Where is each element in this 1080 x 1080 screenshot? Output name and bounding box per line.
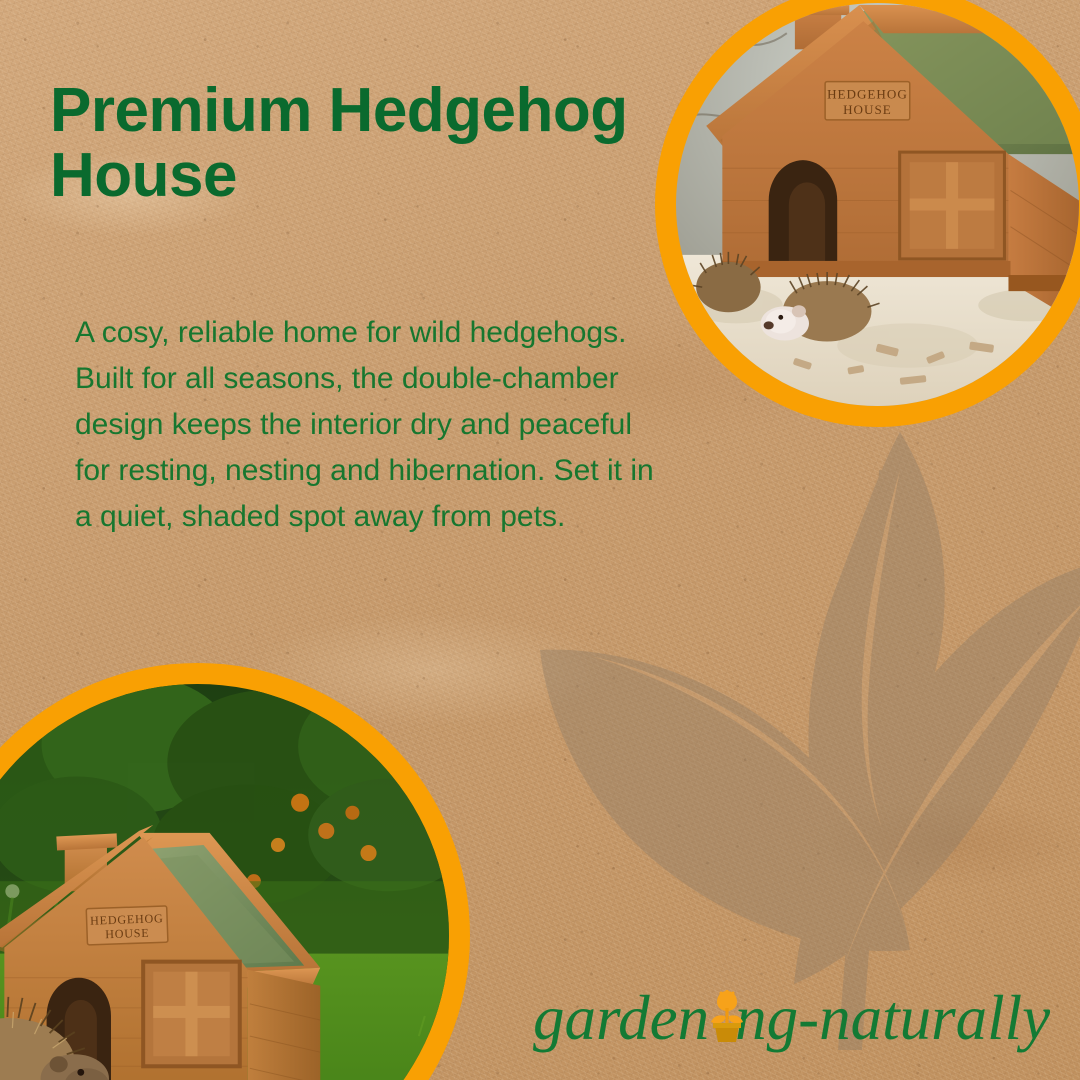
svg-text:HEDGEHOG: HEDGEHOG: [827, 87, 908, 102]
headline-line-2: House: [50, 143, 650, 208]
svg-text:HOUSE: HOUSE: [843, 102, 892, 117]
description-line-5: a quiet, shaded spot away from pets.: [75, 494, 660, 540]
house-window: [143, 962, 240, 1067]
sprout-in-pot-icon: [710, 990, 744, 1047]
description-line-1: A cosy, reliable home for wild hedgehogs…: [75, 310, 660, 356]
description-line-4: for resting, nesting and hibernation. Se…: [75, 448, 660, 494]
description-line-3: design keeps the interior dry and peacef…: [75, 402, 660, 448]
house-window: [900, 152, 1005, 259]
headline-line-1: Premium Hedgehog: [50, 78, 650, 143]
poster-canvas: Premium Hedgehog House A cosy, reliable …: [0, 0, 1080, 1080]
product-description: A cosy, reliable home for wild hedgehogs…: [75, 310, 660, 540]
hedgehog-house-plaque: HEDGEHOG HOUSE: [825, 82, 910, 120]
logo-text-part-b: ng-naturally: [735, 982, 1050, 1054]
svg-text:HOUSE: HOUSE: [105, 926, 150, 942]
product-photo-closeup[interactable]: HEDGEHOG HOUSE: [676, 3, 1079, 406]
svg-text:HEDGEHOG: HEDGEHOG: [90, 911, 164, 928]
hedgehog-house-plaque: HEDGEHOG HOUSE: [86, 906, 168, 945]
description-line-2: Built for all seasons, the double-chambe…: [75, 356, 660, 402]
logo-text-part-a: garden: [533, 982, 709, 1054]
brand-logo[interactable]: garden ng-naturally: [533, 982, 1043, 1054]
page-title: Premium Hedgehog House: [50, 78, 650, 208]
